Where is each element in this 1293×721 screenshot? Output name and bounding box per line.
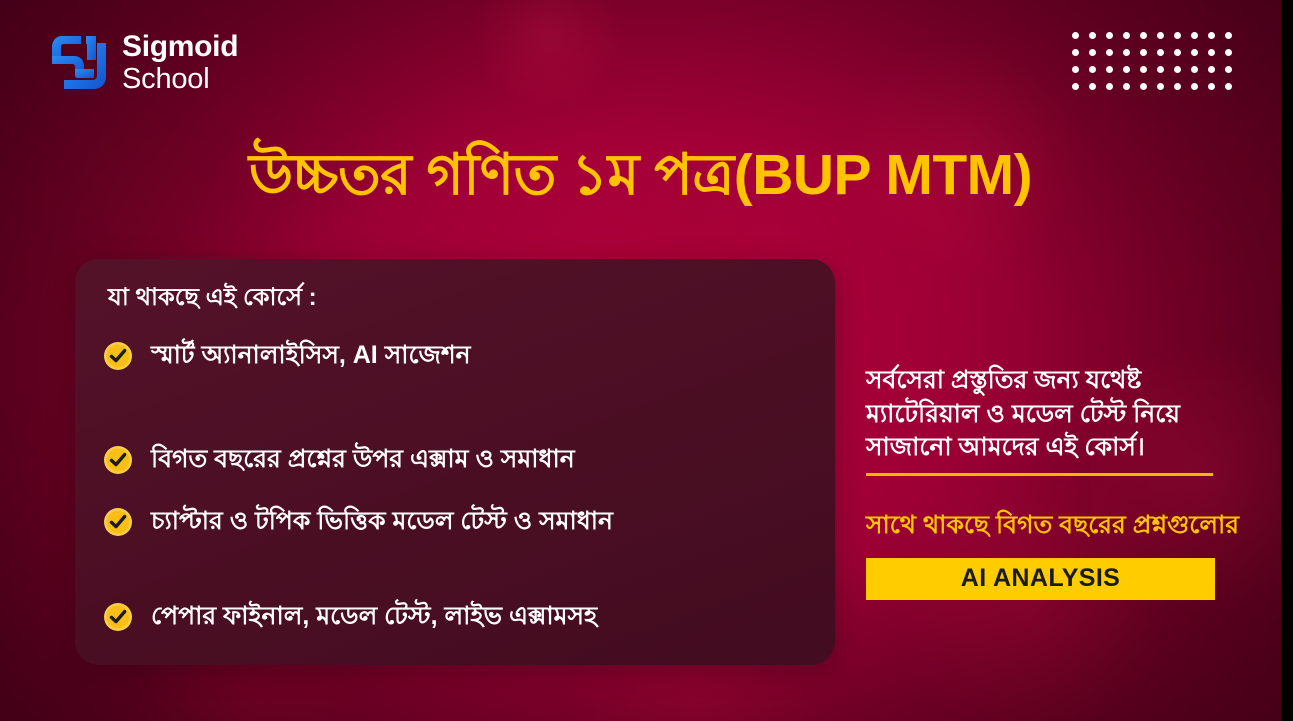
dot	[1208, 32, 1215, 39]
list-item: চ্যাপ্টার ও টপিক ভিত্তিক মডেল টেস্ট ও সম…	[103, 499, 817, 545]
page-title: উচ্চতর গণিত ১ম পত্র(BUP MTM)	[0, 132, 1281, 227]
dot	[1089, 49, 1096, 56]
dot	[1089, 83, 1096, 90]
dot	[1072, 49, 1079, 56]
dot	[1140, 66, 1147, 73]
gold-divider	[866, 473, 1213, 476]
brand-name-line1: Sigmoid	[122, 32, 238, 62]
dot	[1174, 66, 1181, 73]
dot	[1106, 66, 1113, 73]
dot	[1174, 32, 1181, 39]
dot	[1157, 83, 1164, 90]
dot-grid-decoration	[1072, 32, 1242, 100]
dot	[1140, 32, 1147, 39]
promo-banner: Sigmoid School উচ্চতর গণিত ১ম পত্র(BUP M…	[0, 0, 1293, 721]
brand-wordmark: Sigmoid School	[122, 32, 238, 94]
ai-analysis-button[interactable]: AI ANALYSIS	[866, 558, 1215, 600]
check-circle-icon	[103, 602, 133, 632]
dot	[1123, 66, 1130, 73]
dot	[1157, 66, 1164, 73]
dot	[1089, 66, 1096, 73]
features-list: স্মার্ট অ্যানালাইসিস, AI সাজেশন বিগত বছর…	[103, 321, 817, 640]
dot	[1123, 32, 1130, 39]
dot	[1225, 49, 1232, 56]
dot	[1225, 32, 1232, 39]
dot	[1072, 66, 1079, 73]
dot	[1140, 49, 1147, 56]
dot	[1225, 83, 1232, 90]
dot	[1225, 66, 1232, 73]
dot	[1072, 32, 1079, 39]
dot	[1123, 49, 1130, 56]
feature-label: স্মার্ট অ্যানালাইসিস, AI সাজেশন	[151, 335, 471, 378]
dot	[1089, 32, 1096, 39]
promo-paragraph: সর্বসেরা প্রস্তুতির জন্য যথেষ্ট ম্যাটেরি…	[866, 364, 1248, 465]
feature-label: পেপার ফাইনাল, মডেল টেস্ট, লাইভ এক্সামসহ	[151, 596, 597, 639]
dot	[1157, 32, 1164, 39]
right-edge-strip	[1281, 0, 1293, 721]
brand-name-line2: School	[122, 65, 238, 94]
check-circle-icon	[103, 507, 133, 537]
dot	[1191, 66, 1198, 73]
dot	[1208, 83, 1215, 90]
dot	[1157, 49, 1164, 56]
dot	[1140, 83, 1147, 90]
dot	[1174, 83, 1181, 90]
dot	[1174, 49, 1181, 56]
dot	[1106, 32, 1113, 39]
features-card-heading: যা থাকছে এই কোর্সে :	[108, 279, 317, 319]
check-circle-icon	[103, 445, 133, 475]
feature-label: বিগত বছরের প্রশ্নের উপর এক্সাম ও সমাধান	[151, 439, 575, 482]
dot	[1106, 83, 1113, 90]
dot	[1072, 83, 1079, 90]
dot	[1106, 49, 1113, 56]
dot	[1191, 32, 1198, 39]
dot	[1191, 49, 1198, 56]
dot	[1191, 83, 1198, 90]
dot	[1208, 66, 1215, 73]
dot	[1208, 49, 1215, 56]
promo-kicker: সাথে থাকছে বিগত বছরের প্রশ্নগুলোর	[866, 505, 1286, 548]
features-card: যা থাকছে এই কোর্সে : স্মার্ট অ্যানালাইসি…	[75, 259, 835, 665]
list-item: পেপার ফাইনাল, মডেল টেস্ট, লাইভ এক্সামসহ	[103, 594, 817, 640]
sigmoid-s-monogram-icon	[50, 33, 108, 93]
feature-label: চ্যাপ্টার ও টপিক ভিত্তিক মডেল টেস্ট ও সম…	[151, 501, 613, 544]
brand-logo[interactable]: Sigmoid School	[50, 32, 238, 94]
right-column: সর্বসেরা প্রস্তুতির জন্য যথেষ্ট ম্যাটেরি…	[866, 364, 1286, 600]
dot	[1123, 83, 1130, 90]
check-circle-icon	[103, 341, 133, 371]
list-item: বিগত বছরের প্রশ্নের উপর এক্সাম ও সমাধান	[103, 437, 817, 483]
list-item: স্মার্ট অ্যানালাইসিস, AI সাজেশন	[103, 333, 817, 379]
